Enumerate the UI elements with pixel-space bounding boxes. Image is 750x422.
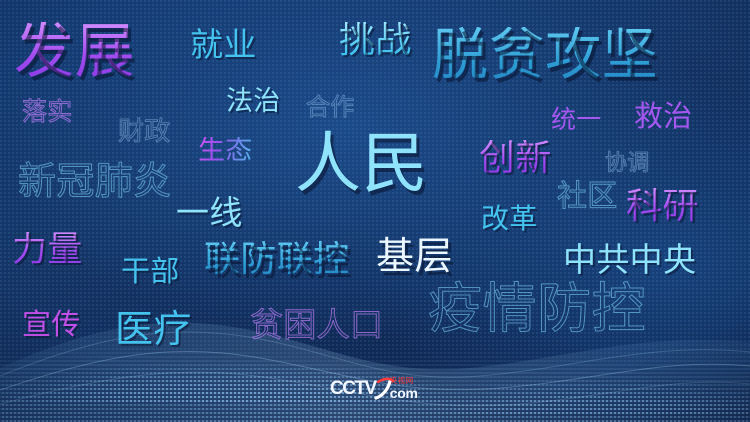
- cctv-logo-right: 央视网 com: [390, 377, 418, 400]
- word-cloud-term: 财政: [118, 118, 171, 144]
- word-cloud-term: 协调: [605, 152, 649, 174]
- cctv-wordmark: CCTV: [330, 379, 376, 398]
- word-cloud-term: 社区: [557, 182, 618, 212]
- cctv-com-suffix: com: [390, 386, 418, 400]
- word-cloud-term: 贫困人口: [250, 308, 383, 341]
- word-cloud-term: 医疗: [115, 311, 192, 349]
- word-cloud-term: 统一: [551, 108, 602, 133]
- word-cloud-term: 合作: [306, 96, 354, 120]
- word-cloud-term: 人民: [295, 130, 428, 196]
- word-cloud-term: 基层: [376, 238, 453, 276]
- word-cloud-term: 新冠肺炎: [18, 163, 172, 201]
- word-cloud-term: 就业: [190, 28, 257, 61]
- word-cloud-term: 改革: [481, 205, 538, 233]
- word-cloud-term: 力量: [12, 232, 83, 267]
- cctv-swoosh-icon: [377, 377, 390, 399]
- word-cloud-term: 法治: [226, 88, 281, 115]
- word-cloud-term: 落实: [22, 100, 73, 125]
- word-cloud-term: 脱贫攻坚: [432, 27, 658, 83]
- cctv-logo[interactable]: CCTV 央视网 com: [330, 377, 418, 400]
- word-cloud-term: 创新: [479, 140, 552, 176]
- word-cloud-term: 科研: [626, 188, 699, 224]
- word-cloud-term: 中共中央: [563, 243, 696, 276]
- word-cloud-term: 宣传: [22, 311, 81, 340]
- word-cloud-term: 疫情防控: [428, 282, 646, 336]
- word-cloud-term: 发展: [14, 22, 135, 82]
- word-cloud-term: 干部: [121, 258, 180, 287]
- word-cloud-term: 联防联控: [204, 241, 349, 277]
- word-cloud-term: 救治: [634, 103, 693, 132]
- word-cloud-term: 挑战: [339, 22, 412, 58]
- cctv-chinese-name: 央视网: [390, 377, 418, 385]
- word-cloud-term: 一线: [176, 196, 243, 229]
- word-cloud-term: 生态: [198, 137, 253, 164]
- word-cloud-banner: 发展就业挑战脱贫攻坚落实财政法治合作生态统一救治协调新冠肺炎人民创新社区科研一线…: [0, 0, 750, 422]
